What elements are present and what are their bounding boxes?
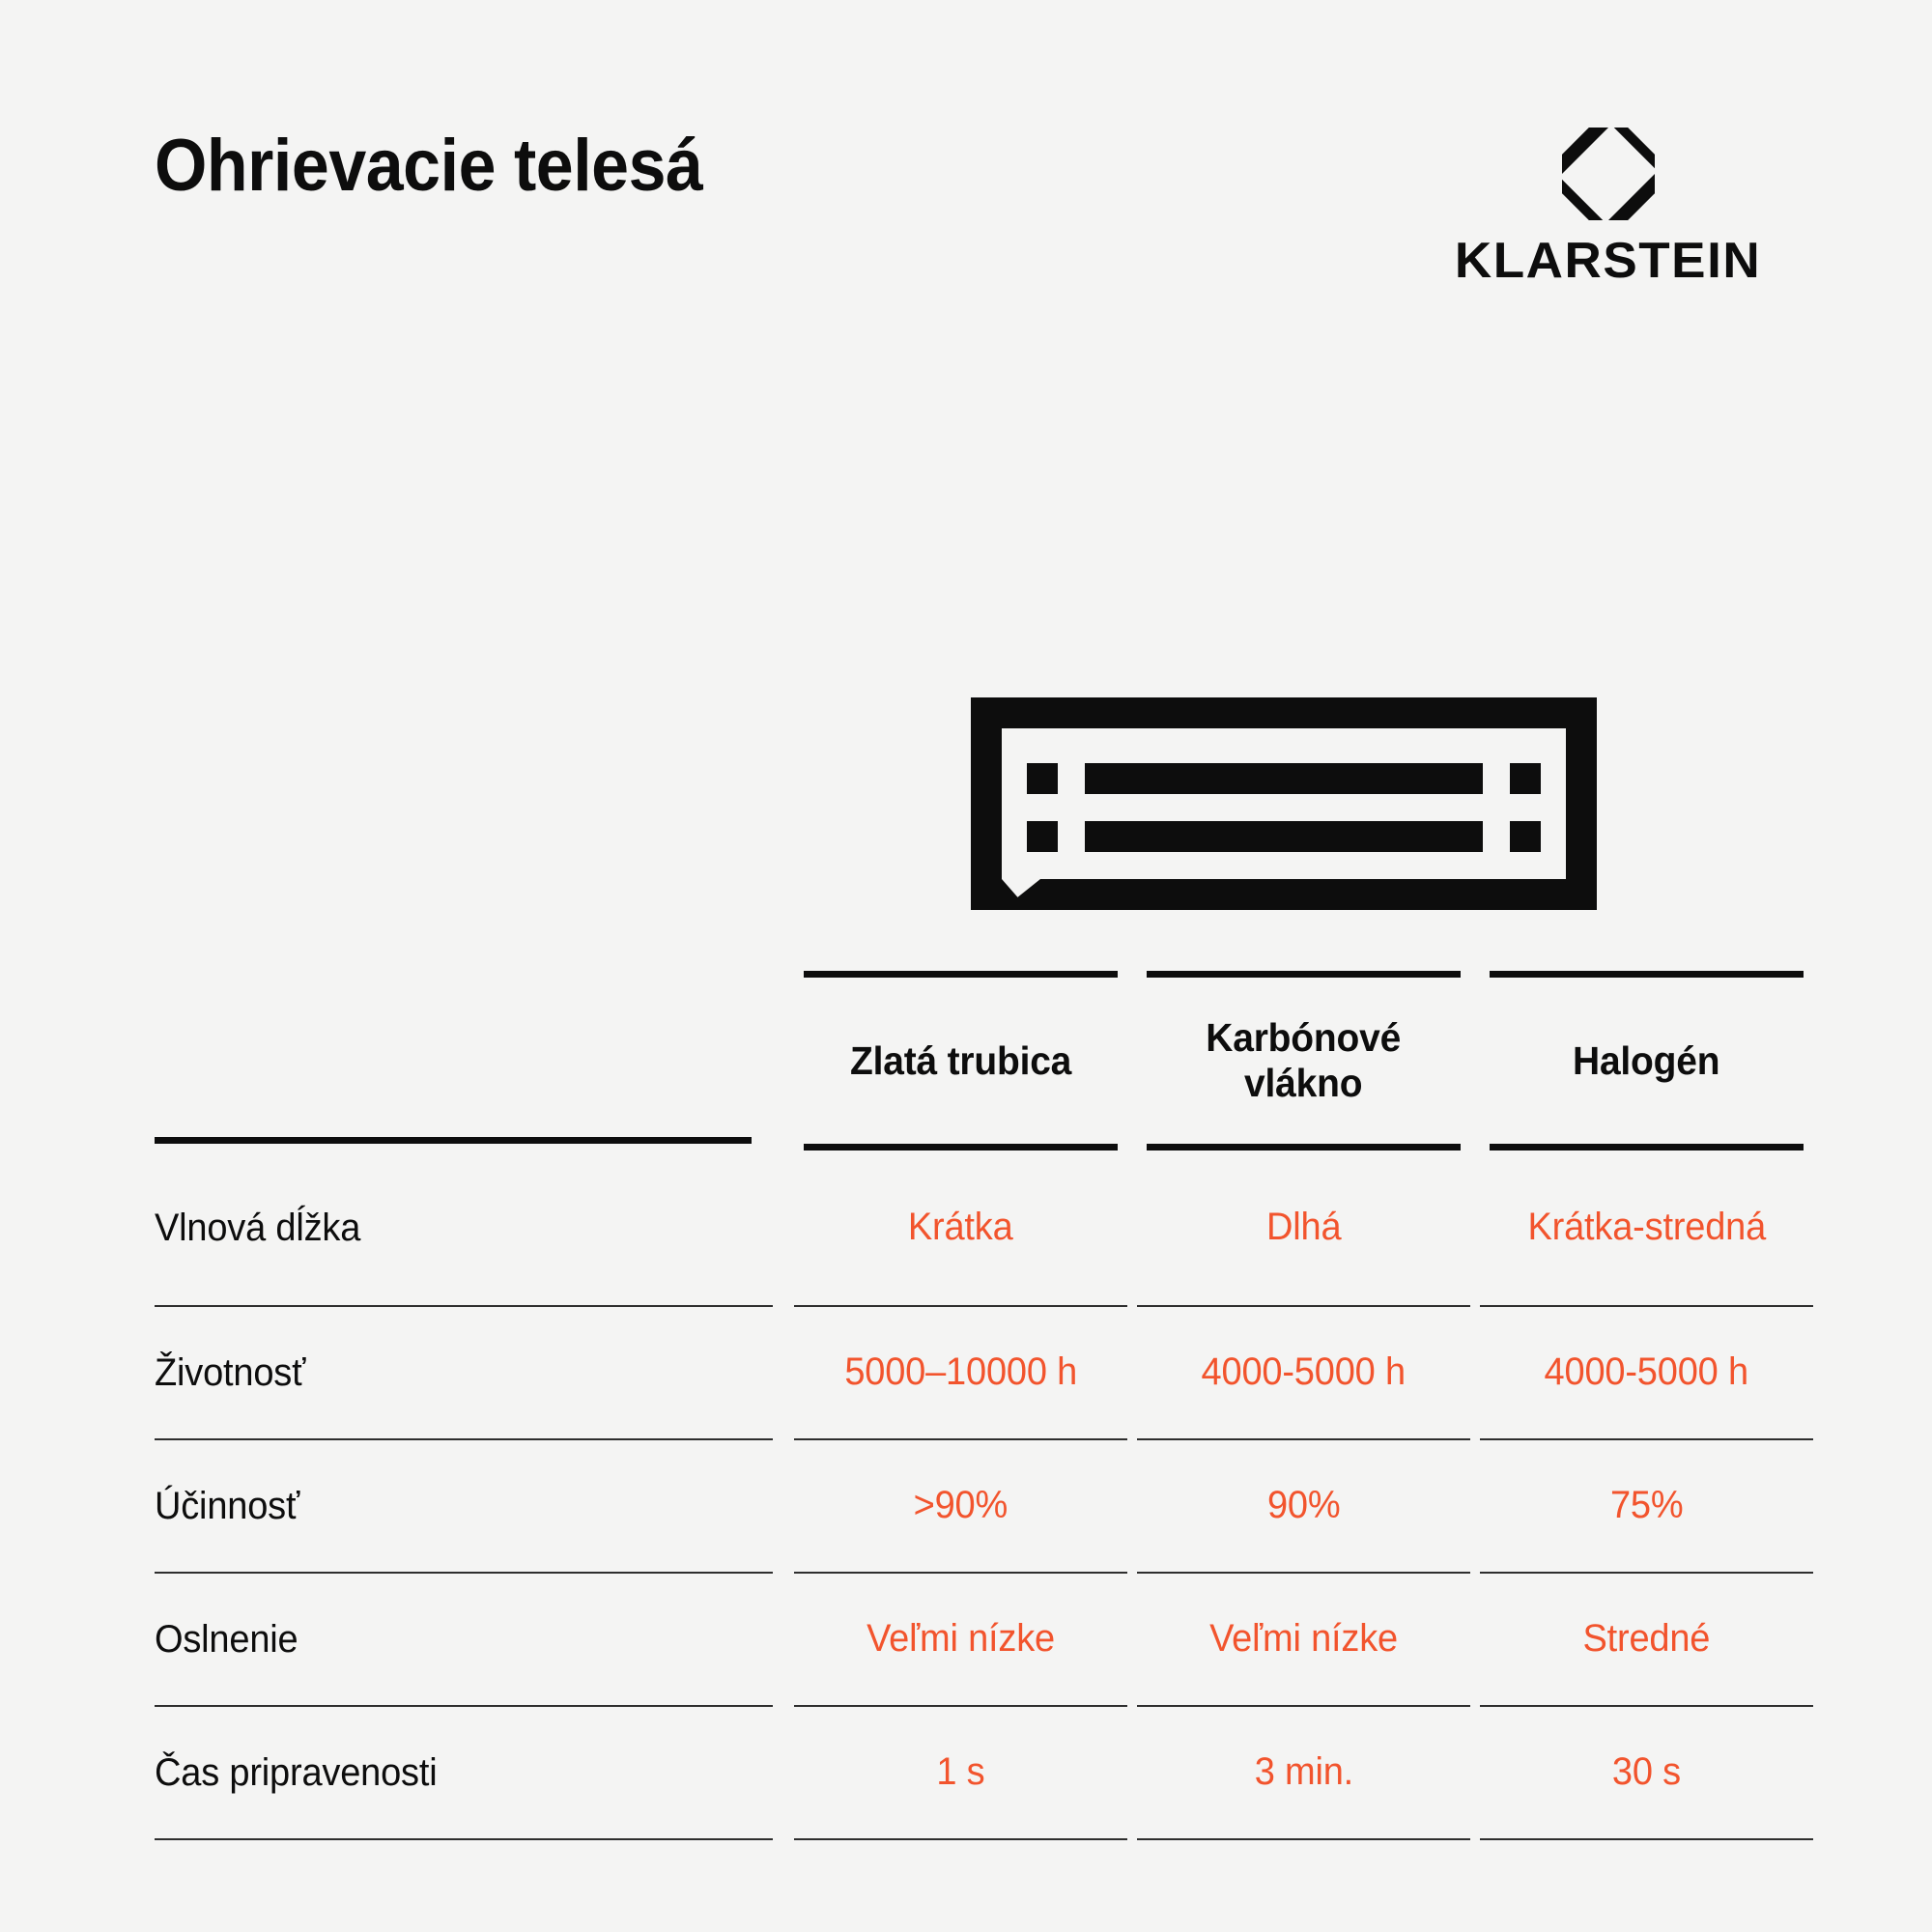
row-value-cell: 30 s <box>1480 1707 1813 1840</box>
brand-wordmark: KLARSTEIN <box>1455 236 1761 286</box>
row-value: 1 s <box>936 1749 984 1795</box>
row-label: Účinnosť <box>155 1484 299 1528</box>
row-value-cell: Veľmi nízke <box>794 1574 1127 1707</box>
row-value: 75% <box>1610 1483 1683 1528</box>
column-header-label: Halogén <box>1573 1038 1719 1084</box>
infrared-heater-icon <box>971 697 1597 910</box>
table-row: Oslnenie Veľmi nízke Veľmi nízke Stredné <box>155 1574 1773 1707</box>
row-label-cell: Oslnenie <box>155 1574 773 1707</box>
row-value: 5000–10000 h <box>844 1350 1077 1395</box>
row-value: Krátka <box>908 1205 1013 1250</box>
column-header-gold-tube: Zlatá trubica <box>794 971 1127 1151</box>
column-header-label: Karbónové vlákno <box>1207 1015 1402 1105</box>
row-value-cell: Stredné <box>1480 1574 1813 1707</box>
brand-lockup: KLARSTEIN <box>1439 128 1777 286</box>
row-value-cell: 90% <box>1137 1440 1470 1574</box>
row-value-cell: Veľmi nízke <box>1137 1574 1470 1707</box>
row-value: Veľmi nízke <box>867 1616 1055 1662</box>
row-value: 90% <box>1267 1483 1340 1528</box>
table-row: Životnosť 5000–10000 h 4000-5000 h 4000-… <box>155 1307 1773 1440</box>
row-value-cell: Krátka-stredná <box>1480 1151 1813 1307</box>
row-value: 4000-5000 h <box>1202 1350 1406 1395</box>
row-value-cell: 4000-5000 h <box>1137 1307 1470 1440</box>
row-value: Krátka-stredná <box>1527 1205 1766 1250</box>
table-row: Účinnosť >90% 90% 75% <box>155 1440 1773 1574</box>
row-value-cell: Krátka <box>794 1151 1127 1307</box>
row-label-cell: Vlnová dĺžka <box>155 1151 773 1307</box>
row-value: 3 min. <box>1254 1749 1352 1795</box>
row-value: >90% <box>914 1483 1008 1528</box>
row-value-cell: 4000-5000 h <box>1480 1307 1813 1440</box>
row-value: Stredné <box>1583 1616 1711 1662</box>
table-header-row: Zlatá trubica Karbónové vlákno Halogén <box>155 971 1773 1151</box>
infographic-page: Ohrievacie telesá <box>0 0 1932 1932</box>
row-label-cell: Čas pripravenosti <box>155 1707 773 1840</box>
row-label: Čas pripravenosti <box>155 1750 437 1795</box>
row-value: 30 s <box>1612 1749 1681 1795</box>
row-value-cell: 1 s <box>794 1707 1127 1840</box>
row-label-cell: Životnosť <box>155 1307 773 1440</box>
row-value-cell: >90% <box>794 1440 1127 1574</box>
row-value: Veľmi nízke <box>1209 1616 1398 1662</box>
row-label: Životnosť <box>155 1350 305 1395</box>
page-title: Ohrievacie telesá <box>155 128 702 205</box>
row-value-cell: 75% <box>1480 1440 1813 1574</box>
row-value-cell: Dlhá <box>1137 1151 1470 1307</box>
column-header-carbon-fiber: Karbónové vlákno <box>1137 971 1470 1151</box>
table-row: Čas pripravenosti 1 s 3 min. 30 s <box>155 1707 1773 1840</box>
row-label-cell: Účinnosť <box>155 1440 773 1574</box>
column-header-label: Zlatá trubica <box>850 1038 1071 1084</box>
comparison-table: Zlatá trubica Karbónové vlákno Halogén V… <box>155 971 1773 1840</box>
row-label: Vlnová dĺžka <box>155 1206 360 1250</box>
column-header-halogen: Halogén <box>1480 971 1813 1151</box>
table-row: Vlnová dĺžka Krátka Dlhá Krátka-stredná <box>155 1151 1773 1307</box>
klarstein-octagon-mark-icon <box>1562 128 1655 220</box>
row-value: 4000-5000 h <box>1545 1350 1748 1395</box>
row-label: Oslnenie <box>155 1617 298 1662</box>
row-value: Dlhá <box>1266 1205 1341 1250</box>
row-value-cell: 5000–10000 h <box>794 1307 1127 1440</box>
row-value-cell: 3 min. <box>1137 1707 1470 1840</box>
